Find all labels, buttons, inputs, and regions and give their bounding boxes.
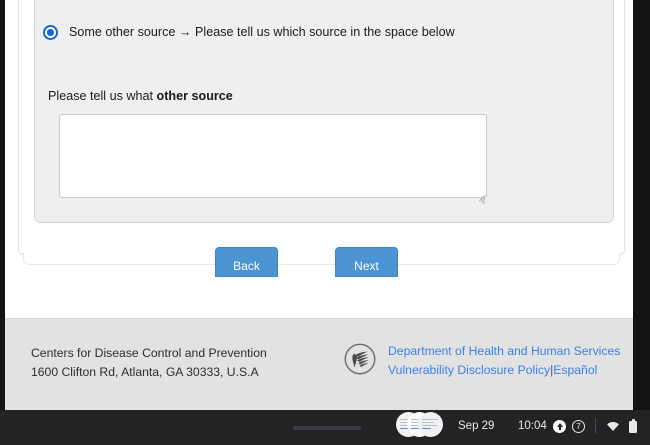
browser-viewport: Some other source → Please tell us which… xyxy=(5,0,633,410)
link-hhs-department[interactable]: Department of Health and Human Services xyxy=(388,344,620,358)
footer-agency-line1: Centers for Disease Control and Preventi… xyxy=(31,344,267,363)
update-icon[interactable] xyxy=(553,420,566,433)
other-source-prompt: Please tell us what other source xyxy=(48,89,233,103)
shelf-time[interactable]: 10:04 xyxy=(518,420,547,432)
survey-page-card-shadow xyxy=(23,253,620,265)
shelf-divider xyxy=(595,418,596,434)
footer-agency-line2: 1600 Clifton Rd, Atlanta, GA 30333, U.S.… xyxy=(31,363,267,382)
radio-button-selected[interactable] xyxy=(43,25,58,40)
next-button-label: Next xyxy=(336,251,397,273)
back-button[interactable]: Back xyxy=(215,247,278,277)
radio-option-label: Some other source → Please tell us which… xyxy=(69,26,455,39)
link-espanol[interactable]: Español xyxy=(553,363,597,377)
footer-links: Department of Health and Human Services … xyxy=(388,342,620,380)
notification-count-icon[interactable]: 7 xyxy=(572,420,585,433)
window-preview-stack[interactable] xyxy=(396,411,443,438)
shelf-drag-handle[interactable] xyxy=(293,426,361,430)
shelf-date[interactable]: Sep 29 xyxy=(458,420,494,432)
battery-icon[interactable] xyxy=(629,419,637,433)
back-button-label: Back xyxy=(216,251,277,273)
window-preview-3[interactable] xyxy=(418,412,443,437)
next-button[interactable]: Next xyxy=(335,247,398,277)
screen: Some other source → Please tell us which… xyxy=(0,0,650,445)
footer-agency-address: Centers for Disease Control and Preventi… xyxy=(31,344,267,382)
radio-dot xyxy=(47,29,54,36)
link-vulnerability-disclosure-policy[interactable]: Vulnerability Disclosure Policy xyxy=(388,363,550,377)
other-source-prompt-prefix: Please tell us what xyxy=(48,89,157,103)
window-bezel-right xyxy=(633,0,650,410)
other-source-textarea[interactable] xyxy=(59,114,487,198)
hhs-seal-icon xyxy=(341,340,379,378)
radio-option-other-source[interactable]: Some other source → Please tell us which… xyxy=(43,25,455,40)
wifi-icon[interactable] xyxy=(606,421,620,432)
other-source-prompt-emphasis: other source xyxy=(157,89,233,103)
